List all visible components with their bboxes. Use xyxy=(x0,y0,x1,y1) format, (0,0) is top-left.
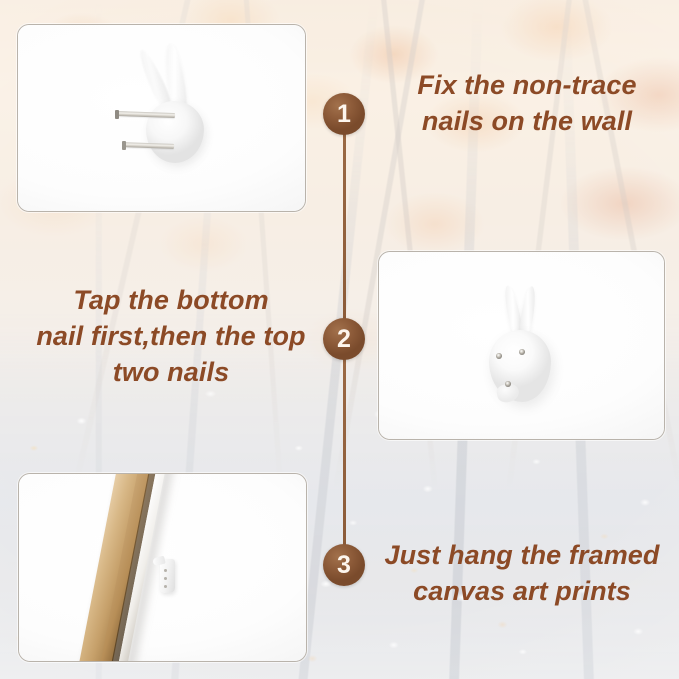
wall-hook-nail-3 xyxy=(164,585,167,588)
non-trace-nail-upper-head xyxy=(115,110,119,119)
step-caption-3-line-2: canvas art prints xyxy=(372,574,672,610)
step-caption-3-line-1: Just hang the framed xyxy=(372,538,672,574)
wall-hook-nail-2 xyxy=(164,577,167,580)
step-badge-2: 2 xyxy=(323,318,365,360)
step-caption-2-line-3: two nails xyxy=(26,355,316,391)
step-caption-2: Tap the bottom nail first,then the top t… xyxy=(26,283,316,391)
step-caption-1-line-1: Fix the non-trace xyxy=(384,68,670,104)
step-connector-line-1-2 xyxy=(343,110,346,335)
step-caption-1-line-2: nails on the wall xyxy=(384,104,670,140)
photo-panel-step-3-image xyxy=(19,474,306,661)
nail-head-bottom xyxy=(505,381,511,387)
nail-head-top-right xyxy=(519,349,525,355)
photo-panel-step-1-image xyxy=(18,25,305,211)
step-caption-1: Fix the non-trace nails on the wall xyxy=(384,68,670,140)
step-badge-3: 3 xyxy=(323,544,365,586)
photo-panel-step-3 xyxy=(18,473,307,662)
instruction-infographic: 1 Fix the non-trace nails on the wall 2 … xyxy=(0,0,679,679)
step-badge-1: 1 xyxy=(323,93,365,135)
photo-panel-step-2-image xyxy=(379,252,664,439)
wall-hook-nail-1 xyxy=(164,569,167,572)
photo-panel-step-2 xyxy=(378,251,665,440)
non-trace-nail-lower-head xyxy=(122,141,126,150)
step-caption-2-line-2: nail first,then the top xyxy=(26,319,316,355)
step-caption-3: Just hang the framed canvas art prints xyxy=(372,538,672,610)
step-caption-2-line-1: Tap the bottom xyxy=(26,283,316,319)
photo-panel-step-1 xyxy=(17,24,306,212)
nail-head-top-left xyxy=(496,353,502,359)
step-connector-line-2-3 xyxy=(343,335,346,563)
